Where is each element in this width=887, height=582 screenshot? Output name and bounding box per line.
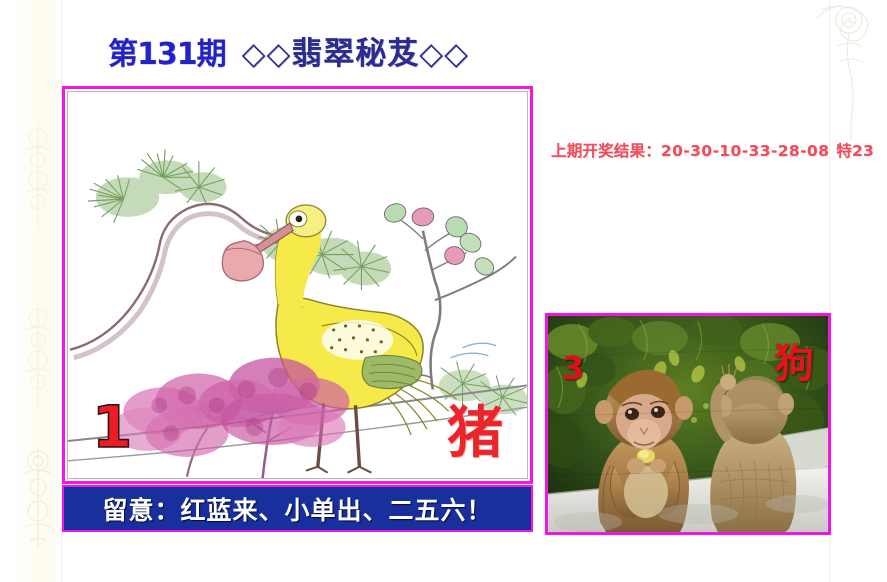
poster-page: 第131期 ◇◇翡翠秘芨◇◇ 上期开奖结果：20-30-10-33-28-08特… [0, 0, 887, 582]
main-picture-zodiac: 猪 [447, 406, 503, 462]
main-picture-frame: 1 猪 [62, 86, 533, 484]
previous-result-special: 特23 [836, 142, 874, 160]
left-ornament-border [14, 0, 62, 582]
main-picture-number: 1 [92, 398, 132, 456]
main-picture-inner: 1 猪 [67, 91, 528, 479]
tip-banner-text: 留意：红蓝来、小单出、二五六！ [102, 491, 492, 527]
left-ornament-icon-3 [18, 445, 58, 555]
tip-banner: 留意：红蓝来、小单出、二五六！ [62, 485, 533, 532]
photo-inner: 3 狗 [548, 316, 828, 532]
corner-ornament-icon [815, 0, 887, 140]
poster-header: 第131期 ◇◇翡翠秘芨◇◇ [108, 28, 469, 73]
photo-number: 3 [562, 352, 584, 384]
photo-frame: 3 狗 [545, 313, 831, 535]
previous-result-label: 上期开奖结果： [551, 142, 661, 160]
photo-zodiac: 狗 [774, 344, 814, 384]
left-ornament-icon [18, 120, 58, 230]
previous-result: 上期开奖结果：20-30-10-33-28-08特23 [551, 139, 874, 161]
previous-result-numbers: 20-30-10-33-28-08 [661, 142, 829, 160]
page-title: ◇◇翡翠秘芨◇◇ [242, 28, 469, 73]
left-ornament-icon-2 [18, 300, 58, 410]
issue-label: 第131期 [108, 29, 226, 73]
